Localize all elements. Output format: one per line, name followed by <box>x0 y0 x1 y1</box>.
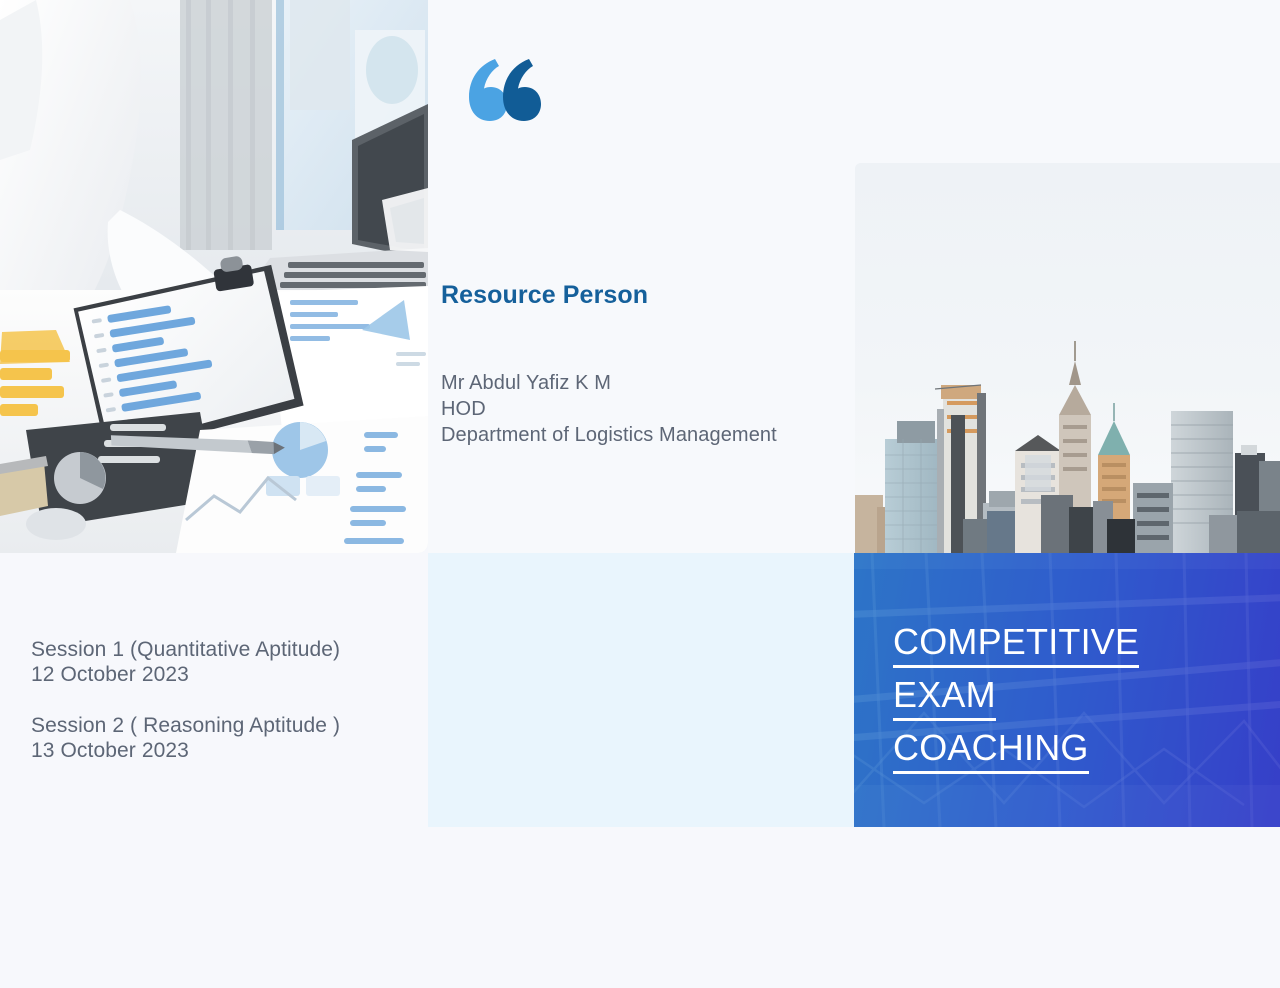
session-2-date: 13 October 2023 <box>31 738 340 763</box>
session-1-date: 12 October 2023 <box>31 662 340 687</box>
resource-person-heading: Resource Person <box>441 281 648 310</box>
resource-person-details: Mr Abdul Yafiz K M HOD Department of Log… <box>441 370 777 448</box>
resource-person-department: Department of Logistics Management <box>441 422 777 448</box>
title-line-2: EXAM <box>893 668 1263 721</box>
session-2-label: Session 2 ( Reasoning Aptitude ) <box>31 713 340 738</box>
resource-person-name: Mr Abdul Yafiz K M <box>441 370 777 396</box>
double-quote-icon <box>466 56 546 124</box>
poster-slide: Resource Person Mr Abdul Yafiz K M HOD D… <box>0 0 1280 988</box>
light-blue-panel <box>428 553 854 827</box>
session-list: Session 1 (Quantitative Aptitude) 12 Oct… <box>31 637 340 789</box>
office-analytics-photo <box>0 0 428 553</box>
resource-person-role: HOD <box>441 396 777 422</box>
title-line-3: COACHING <box>893 721 1263 774</box>
city-skyline-art <box>855 163 1280 553</box>
title-gradient-panel: COMPETITIVE EXAM COACHING <box>854 553 1280 827</box>
session-1-label: Session 1 (Quantitative Aptitude) <box>31 637 340 662</box>
session-item: Session 1 (Quantitative Aptitude) 12 Oct… <box>31 637 340 687</box>
office-photo-art <box>0 0 428 553</box>
session-item: Session 2 ( Reasoning Aptitude ) 13 Octo… <box>31 713 340 763</box>
city-skyline-photo <box>855 163 1280 553</box>
poster-title: COMPETITIVE EXAM COACHING <box>893 615 1263 774</box>
title-line-1: COMPETITIVE <box>893 615 1263 668</box>
